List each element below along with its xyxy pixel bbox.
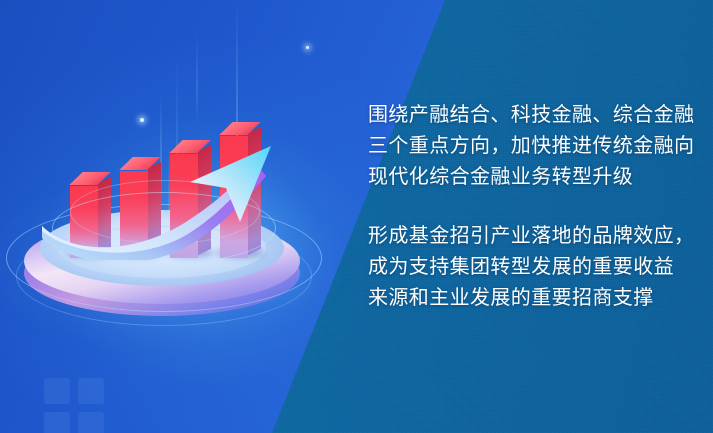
particle-dot (306, 46, 309, 49)
paragraph-1: 围绕产融结合、科技金融、综合金融 三个重点方向，加快推进传统金融向 现代化综合金… (368, 100, 688, 193)
rising-curved-arrow (40, 130, 300, 260)
slide-canvas: 围绕产融结合、科技金融、综合金融 三个重点方向，加快推进传统金融向 现代化综合金… (0, 0, 713, 433)
grid-square (78, 378, 104, 404)
paragraph-1-line-2: 三个重点方向，加快推进传统金融向 (368, 131, 688, 162)
particle-dot (140, 118, 144, 122)
paragraph-2-line-2: 成为支持集团转型发展的重要收益 (368, 252, 688, 283)
grid-square (78, 412, 104, 433)
paragraph-2-line-1: 形成基金招引产业落地的品牌效应， (368, 221, 688, 252)
grid-square (44, 412, 70, 433)
text-content: 围绕产融结合、科技金融、综合金融 三个重点方向，加快推进传统金融向 现代化综合金… (368, 100, 688, 314)
grid-square (44, 378, 70, 404)
paragraph-2-line-3: 来源和主业发展的重要招商支撑 (368, 283, 688, 314)
paragraph-1-line-3: 现代化综合金融业务转型升级 (368, 162, 688, 193)
paragraph-2: 形成基金招引产业落地的品牌效应， 成为支持集团转型发展的重要收益 来源和主业发展… (368, 221, 688, 314)
paragraph-1-line-1: 围绕产融结合、科技金融、综合金融 (368, 100, 688, 131)
